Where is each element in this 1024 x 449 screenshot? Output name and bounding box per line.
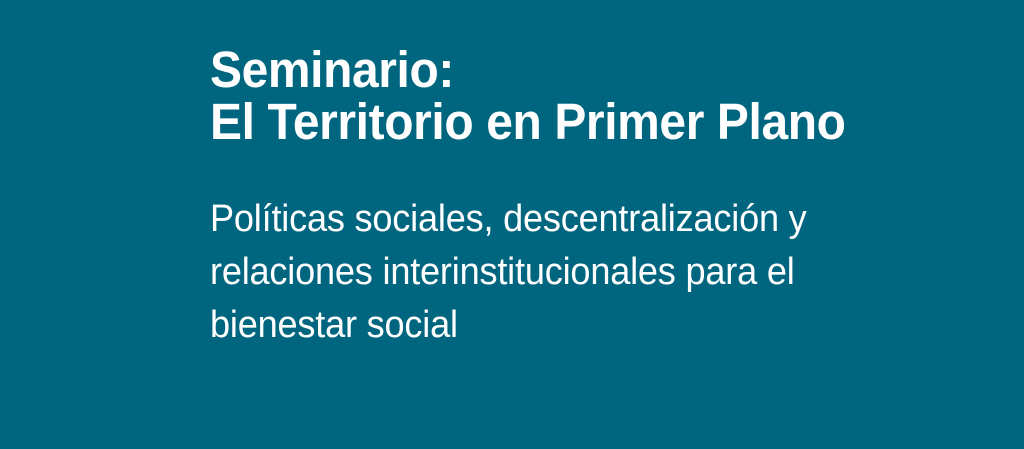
page-title: Seminario: El Territorio en Primer Plano bbox=[210, 44, 970, 148]
subtitle-line-1: Políticas sociales, descentralización y bbox=[210, 193, 932, 246]
title-line-1: Seminario: bbox=[210, 44, 924, 96]
subtitle-line-2: relaciones interinstitucionales para el bbox=[210, 246, 932, 299]
seminar-banner: Seminario: El Territorio en Primer Plano… bbox=[0, 0, 1024, 449]
page-subtitle: Políticas sociales, descentralización y … bbox=[210, 148, 970, 352]
subtitle-line-3: bienestar social bbox=[210, 299, 932, 352]
banner-text-block: Seminario: El Territorio en Primer Plano… bbox=[210, 44, 970, 352]
title-line-2: El Territorio en Primer Plano bbox=[210, 96, 924, 148]
